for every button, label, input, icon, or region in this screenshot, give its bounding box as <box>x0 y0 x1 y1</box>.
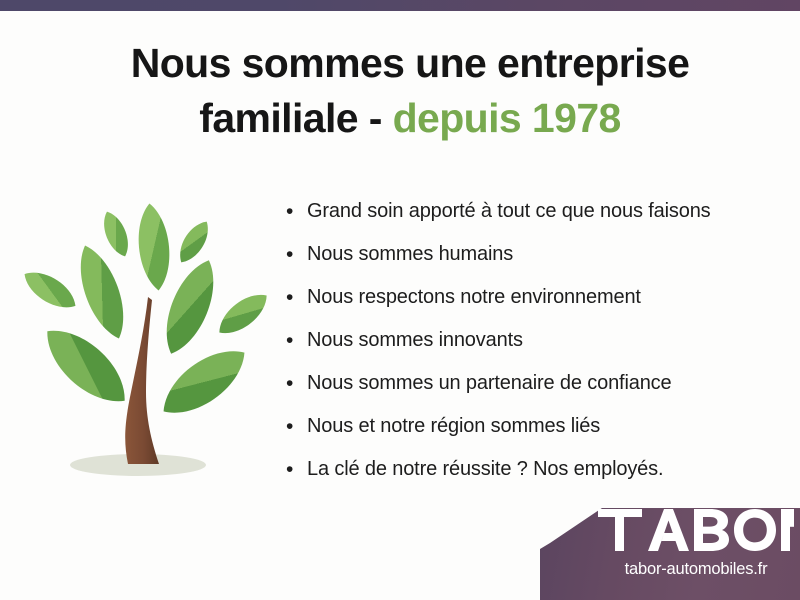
headline-line-2: familiale - depuis 1978 <box>60 91 760 146</box>
top-accent-band <box>0 0 800 11</box>
tree-icon <box>18 182 274 488</box>
slide-canvas: Nous sommes une entreprise familiale - d… <box>0 0 800 600</box>
page-title: Nous sommes une entreprise familiale - d… <box>60 36 760 146</box>
bullet-marker-icon: • <box>286 405 307 448</box>
list-item: • Grand soin apporté à tout ce que nous … <box>286 190 766 233</box>
list-item: • La clé de notre réussite ? Nos employé… <box>286 448 766 491</box>
headline-line-2-plain: familiale - <box>199 95 382 141</box>
bullet-marker-icon: • <box>286 190 307 233</box>
list-item: • Nous sommes humains <box>286 233 766 276</box>
logo-website-url[interactable]: tabor-automobiles.fr <box>598 560 794 579</box>
headline-line-1: Nous sommes une entreprise <box>60 36 760 91</box>
list-item-label: Nous et notre région sommes liés <box>307 405 600 448</box>
list-item: • Nous sommes innovants <box>286 319 766 362</box>
headline-accent-year: depuis 1978 <box>393 95 621 141</box>
tree-illustration <box>18 182 274 488</box>
bullet-marker-icon: • <box>286 276 307 319</box>
bullet-marker-icon: • <box>286 362 307 405</box>
tabor-logo[interactable] <box>598 509 794 551</box>
tree-trunk <box>125 297 159 464</box>
value-list: • Grand soin apporté à tout ce que nous … <box>286 190 766 491</box>
bullet-marker-icon: • <box>286 448 307 491</box>
list-item-label: Nous respectons notre environnement <box>307 276 641 319</box>
list-item: • Nous respectons notre environnement <box>286 276 766 319</box>
tabor-wordmark-icon <box>598 509 794 551</box>
list-item: • Nous sommes un partenaire de confiance <box>286 362 766 405</box>
list-item-label: Nous sommes innovants <box>307 319 523 362</box>
list-item-label: Nous sommes un partenaire de confiance <box>307 362 672 405</box>
list-item-label: Nous sommes humains <box>307 233 513 276</box>
list-item: • Nous et notre région sommes liés <box>286 405 766 448</box>
list-item-label: Grand soin apporté à tout ce que nous fa… <box>307 190 711 233</box>
bullet-marker-icon: • <box>286 233 307 276</box>
list-item-label: La clé de notre réussite ? Nos employés. <box>307 448 663 491</box>
bullet-marker-icon: • <box>286 319 307 362</box>
